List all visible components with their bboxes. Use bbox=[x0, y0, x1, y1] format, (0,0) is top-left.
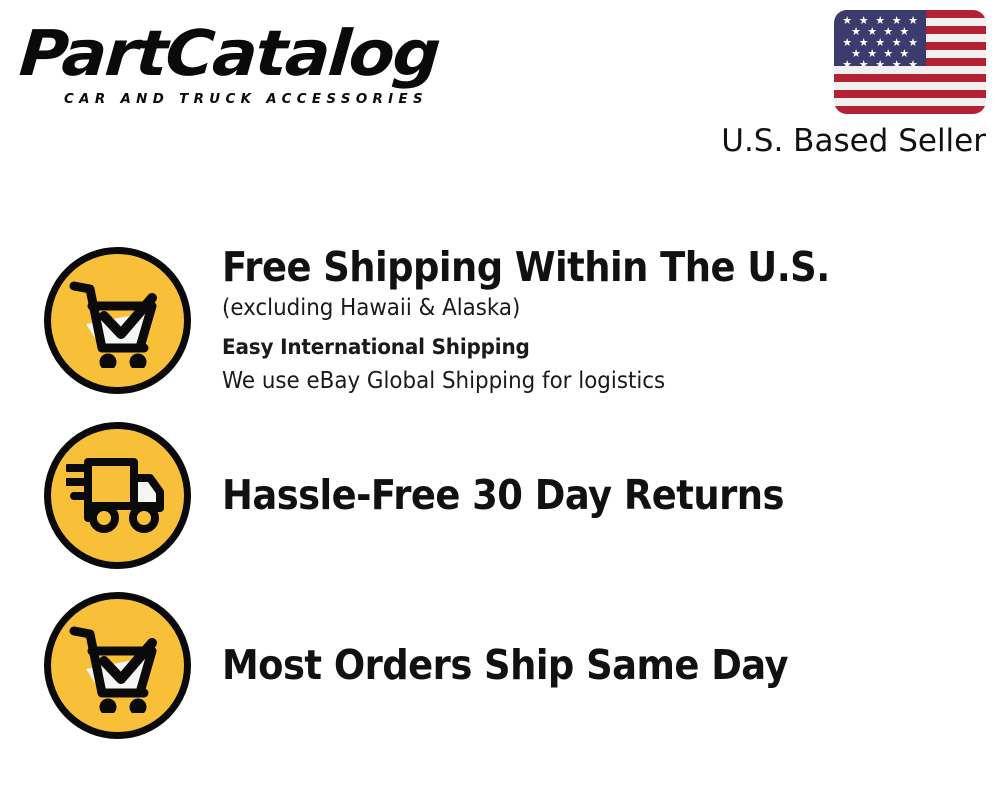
feature-subdetail: We use eBay Global Shipping for logistic… bbox=[222, 365, 946, 398]
feature-title: Hassle-Free 30 Day Returns bbox=[222, 471, 922, 520]
star-icon: ★ bbox=[908, 60, 918, 71]
feature-row: Hassle-Free 30 Day Returns bbox=[0, 420, 1000, 570]
feature-row: Free Shipping Within The U.S. (excluding… bbox=[0, 245, 1000, 395]
star-icon: ★ bbox=[892, 60, 902, 71]
star-icon: ★ bbox=[908, 38, 918, 49]
star-row: ★ ★ ★ ★ ★ bbox=[839, 60, 921, 71]
feature-subheading: Easy International Shipping bbox=[222, 331, 946, 365]
star-icon: ★ bbox=[908, 16, 918, 27]
seller-badge: ★ ★ ★ ★ ★ ★ ★ ★ ★ ★ ★ ★ ★ ★ bbox=[716, 10, 986, 161]
feature-text: Most Orders Ship Same Day bbox=[222, 641, 1000, 690]
shopping-cart-check-icon bbox=[44, 592, 191, 739]
star-icon: ★ bbox=[875, 60, 885, 71]
page-header: PartCatalog CAR AND TRUCK ACCESSORIES bbox=[0, 0, 1000, 175]
brand-wordmark: PartCatalog bbox=[17, 22, 520, 86]
feature-text: Free Shipping Within The U.S. (excluding… bbox=[222, 243, 1000, 398]
star-icon: ★ bbox=[842, 60, 852, 71]
feature-text: Hassle-Free 30 Day Returns bbox=[222, 471, 1000, 520]
delivery-truck-icon bbox=[44, 422, 191, 569]
us-flag-icon: ★ ★ ★ ★ ★ ★ ★ ★ ★ ★ ★ ★ ★ ★ bbox=[834, 10, 986, 114]
seller-label: U.S. Based Seller bbox=[716, 121, 986, 161]
feature-row: Most Orders Ship Same Day bbox=[0, 590, 1000, 740]
brand-logo[interactable]: PartCatalog CAR AND TRUCK ACCESSORIES bbox=[22, 22, 492, 112]
feature-title: Free Shipping Within The U.S. bbox=[222, 243, 922, 292]
star-icon: ★ bbox=[859, 60, 869, 71]
shopping-cart-check-icon bbox=[44, 247, 191, 394]
flag-canton: ★ ★ ★ ★ ★ ★ ★ ★ ★ ★ ★ ★ ★ ★ bbox=[834, 10, 926, 66]
feature-title: Most Orders Ship Same Day bbox=[222, 641, 922, 690]
brand-tagline: CAR AND TRUCK ACCESSORIES bbox=[64, 91, 428, 107]
feature-subnote: (excluding Hawaii & Alaska) bbox=[222, 292, 946, 325]
